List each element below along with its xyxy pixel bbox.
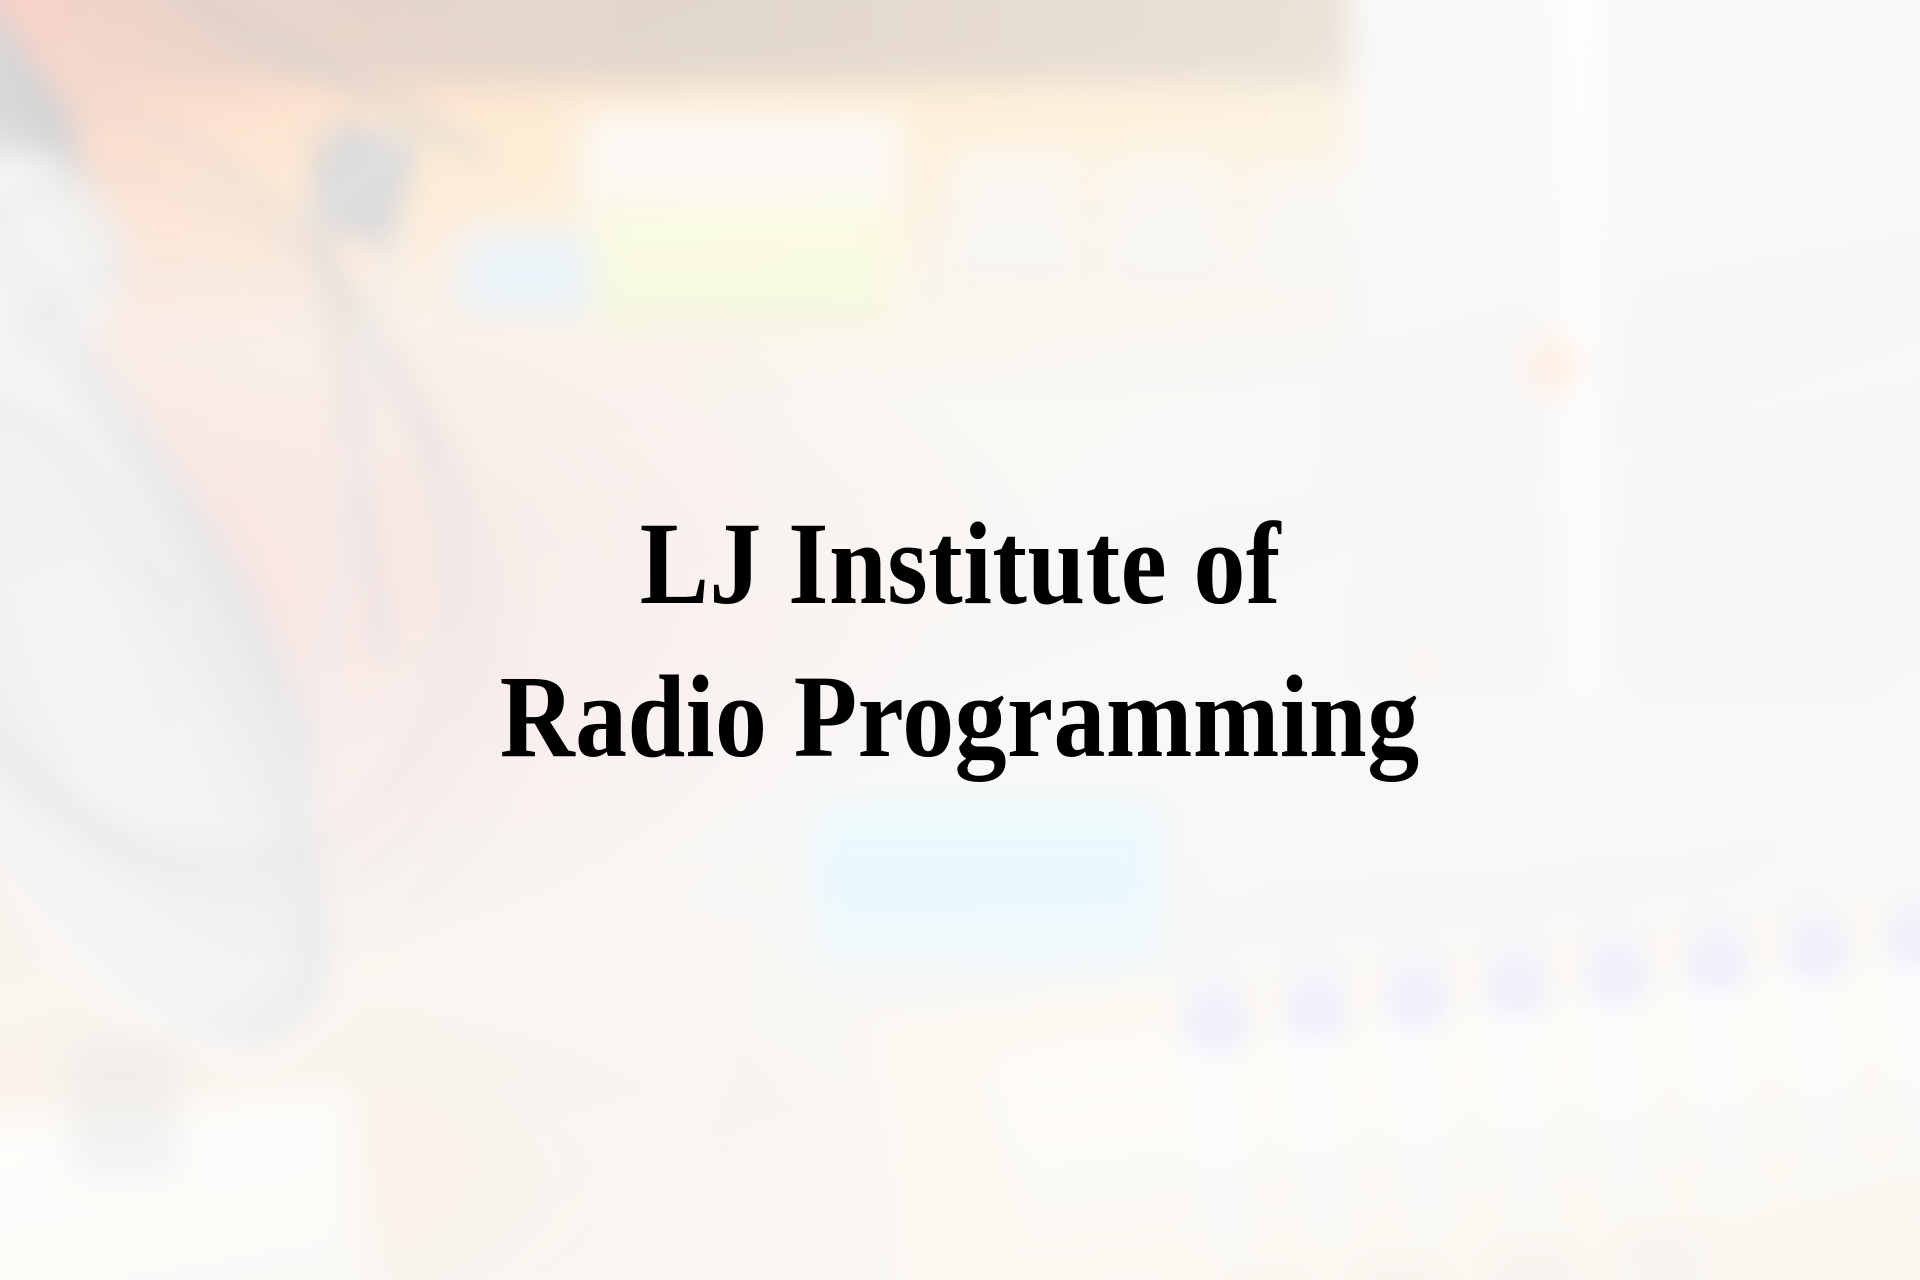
title-text-block: LJ Institute of Radio Programming bbox=[0, 0, 1920, 1280]
title-card: LJ Institute of Radio Programming bbox=[0, 0, 1920, 1280]
title-line-2: Radio Programming bbox=[500, 640, 1420, 793]
title-line-1: LJ Institute of bbox=[639, 487, 1280, 640]
